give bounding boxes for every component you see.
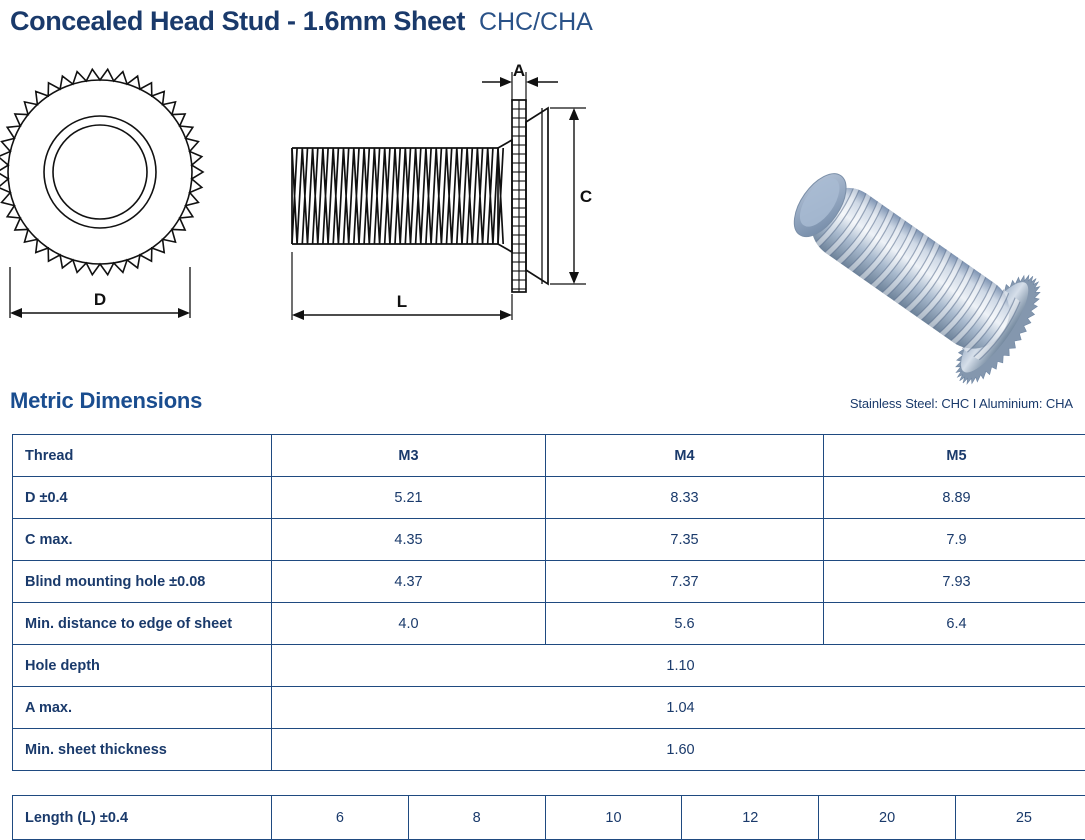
dimension-label-l: L [397, 292, 407, 311]
table-row: Min. distance to edge of sheet4.05.66.4 [13, 603, 1085, 645]
product-code: CHC/CHA [479, 8, 593, 37]
row-label: Min. sheet thickness [13, 729, 272, 771]
row-label: C max. [13, 519, 272, 561]
dimension-l: L [292, 252, 512, 320]
length-value: 8 [408, 796, 545, 840]
table-row: D ±0.45.218.338.89 [13, 477, 1085, 519]
knurled-band-icon [512, 100, 526, 292]
row-value: 7.93 [824, 561, 1085, 603]
row-value: 6.4 [824, 603, 1085, 645]
row-label: Blind mounting hole ±0.08 [13, 561, 272, 603]
length-value: 12 [682, 796, 819, 840]
dimension-label-a: A [513, 61, 525, 80]
stud-side-view: A C L [276, 62, 606, 332]
row-value: 5.21 [272, 477, 546, 519]
length-row-label: Length (L) ±0.4 [13, 796, 272, 840]
row-value: 8.89 [824, 477, 1085, 519]
row-value: 7.37 [546, 561, 824, 603]
length-value: 25 [955, 796, 1085, 840]
column-header-m4: M4 [546, 435, 824, 477]
row-label: Min. distance to edge of sheet [13, 603, 272, 645]
stud-3d-render [770, 62, 1085, 362]
row-value-merged: 1.10 [272, 645, 1085, 687]
metric-dimensions-table: ThreadM3M4M5D ±0.45.218.338.89C max.4.35… [12, 434, 1085, 771]
length-value: 6 [272, 796, 409, 840]
dimension-d: D [10, 267, 190, 318]
column-header-m5: M5 [824, 435, 1085, 477]
dimension-label-c: C [580, 187, 592, 206]
row-value: 7.35 [546, 519, 824, 561]
drawings-area: D [0, 62, 1085, 362]
page-header: Concealed Head Stud - 1.6mm Sheet CHC/CH… [10, 6, 593, 37]
threaded-shaft-3d [782, 161, 1026, 365]
row-label: Hole depth [13, 645, 272, 687]
flange-icon [526, 108, 548, 284]
row-label: D ±0.4 [13, 477, 272, 519]
row-value: 8.33 [546, 477, 824, 519]
column-header-thread: Thread [13, 435, 272, 477]
length-value: 10 [545, 796, 682, 840]
row-value: 5.6 [546, 603, 824, 645]
knurled-head-top-view: D [0, 62, 270, 332]
row-value: 4.0 [272, 603, 546, 645]
table-row: Min. sheet thickness1.60 [13, 729, 1085, 771]
column-header-m3: M3 [272, 435, 546, 477]
row-value-merged: 1.04 [272, 687, 1085, 729]
row-value: 4.35 [272, 519, 546, 561]
row-value-merged: 1.60 [272, 729, 1085, 771]
length-row: Length (L) ±0.46810122025 [13, 796, 1085, 840]
datasheet-page: Concealed Head Stud - 1.6mm Sheet CHC/CH… [0, 0, 1085, 839]
table-row: Hole depth1.10 [13, 645, 1085, 687]
row-value: 7.9 [824, 519, 1085, 561]
table-header-row: ThreadM3M4M5 [13, 435, 1085, 477]
row-label: A max. [13, 687, 272, 729]
row-value: 4.37 [272, 561, 546, 603]
dimension-c: C [550, 108, 592, 284]
materials-note: Stainless Steel: CHC I Aluminium: CHA [850, 396, 1073, 411]
section-title: Metric Dimensions [10, 388, 202, 414]
table-row: C max.4.357.357.9 [13, 519, 1085, 561]
section-header: Metric Dimensions Stainless Steel: CHC I… [0, 390, 1085, 426]
table-row: Blind mounting hole ±0.084.377.377.93 [13, 561, 1085, 603]
dimension-a: A [482, 61, 558, 102]
length-table: Length (L) ±0.46810122025 [12, 795, 1085, 840]
length-value: 20 [819, 796, 956, 840]
serrated-disc-icon [0, 69, 203, 274]
table-row: A max.1.04 [13, 687, 1085, 729]
dimension-label-d: D [94, 290, 106, 309]
page-title: Concealed Head Stud - 1.6mm Sheet [10, 6, 465, 37]
thread-profile-icon [292, 140, 512, 252]
